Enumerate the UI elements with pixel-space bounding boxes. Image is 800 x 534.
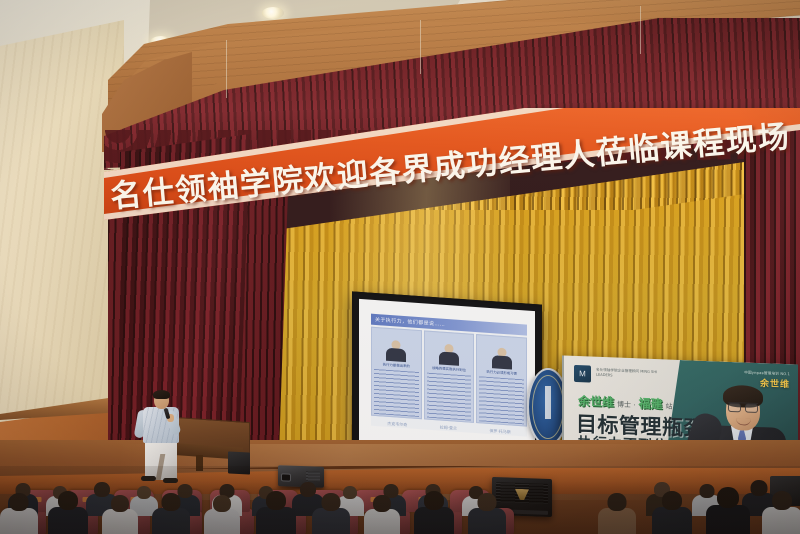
poster-stop-gray: 站 bbox=[665, 401, 672, 411]
audience-member-body bbox=[762, 507, 800, 534]
slide-footer-2: 拉姆·查兰 bbox=[440, 424, 457, 431]
audience-member-body bbox=[598, 508, 636, 534]
audience-member-body bbox=[204, 509, 240, 534]
audience-member bbox=[312, 490, 350, 534]
slide-column-1: 执行力是做出来的 bbox=[371, 327, 422, 420]
audience-member-head bbox=[162, 493, 181, 511]
audience-member-head bbox=[111, 495, 129, 512]
audience-member-head bbox=[266, 491, 286, 510]
crest-pillar bbox=[545, 386, 551, 419]
audience-member-body bbox=[102, 509, 138, 534]
banner-string-right bbox=[640, 6, 641, 54]
audience-member bbox=[204, 492, 240, 534]
slide-photo-1 bbox=[374, 330, 419, 363]
slide-column-3: 执行力必须形成习惯 bbox=[476, 334, 527, 427]
audience-member-head bbox=[424, 491, 444, 510]
audience-member-body bbox=[364, 509, 400, 534]
audience-member bbox=[468, 490, 506, 534]
audience-member-body bbox=[256, 507, 296, 534]
audience-member-head bbox=[717, 487, 739, 508]
slide-photo-3 bbox=[479, 337, 524, 370]
audience-member-head bbox=[608, 493, 627, 511]
banner-string-left bbox=[226, 40, 227, 98]
audience-member bbox=[652, 488, 692, 534]
audience-member bbox=[706, 484, 750, 534]
audience-member-head bbox=[478, 493, 497, 511]
audience-member bbox=[762, 488, 800, 534]
slide-footer-3: 保罗·托马斯 bbox=[489, 428, 510, 435]
audience-member-body bbox=[48, 507, 88, 534]
presentation-slide: 关于执行力，他们都是说…… 执行力是做出来的战略的落实靠执行到位执行力必须形成习… bbox=[371, 314, 527, 437]
audience-member-body bbox=[312, 508, 350, 534]
audience-member-head bbox=[662, 491, 682, 510]
slide-column-2: 战略的落实靠执行到位 bbox=[424, 330, 475, 423]
presenter-hair bbox=[153, 390, 170, 399]
audience-member-head bbox=[58, 491, 78, 510]
audience-member-body bbox=[152, 508, 190, 534]
audience-member-body bbox=[414, 507, 454, 534]
poster-title-gray: 博士 · bbox=[617, 400, 635, 411]
audience-member-head bbox=[10, 493, 29, 511]
audience-member bbox=[0, 490, 38, 534]
audience-member-head bbox=[322, 493, 341, 511]
poster-logo-caption: 名仕领袖学院企业管理顾问 MING SHI LEADERS bbox=[596, 368, 666, 381]
poster-logo-mark: M bbox=[574, 365, 591, 383]
audience-member bbox=[48, 488, 88, 534]
audience-member-body bbox=[706, 505, 750, 534]
auditorium-scene: 名仕领袖学院欢迎各界成功经理人莅临课程现场 关于执行力，他们都是说…… 执行力是… bbox=[0, 0, 800, 534]
slide-bodytext-2 bbox=[427, 372, 472, 420]
audience-member-body bbox=[652, 507, 692, 534]
poster-man-glasses-icon bbox=[728, 402, 758, 411]
audience-member bbox=[102, 492, 138, 534]
audience-member bbox=[256, 488, 296, 534]
slide-bodytext-3 bbox=[479, 376, 524, 424]
slide-footer-1: 杰克韦尔奇 bbox=[387, 421, 407, 428]
screen-surface: 关于执行力，他们都是说…… 执行力是做出来的战略的落实靠执行到位执行力必须形成习… bbox=[359, 299, 535, 454]
audience-member-body bbox=[468, 508, 506, 534]
audience-member-body bbox=[0, 508, 38, 534]
audience-member bbox=[364, 492, 400, 534]
seated-audience bbox=[0, 466, 800, 534]
banner-string-mid bbox=[420, 20, 421, 74]
slide-photo-2 bbox=[427, 334, 472, 367]
audience-member-head bbox=[373, 495, 391, 512]
audience-member-head bbox=[772, 491, 792, 510]
slide-bodytext-1 bbox=[374, 369, 419, 417]
audience-member bbox=[152, 490, 190, 534]
slide-columns: 执行力是做出来的战略的落实靠执行到位执行力必须形成习惯 bbox=[371, 327, 527, 427]
audience-member-head bbox=[137, 486, 151, 499]
audience-member-head bbox=[213, 495, 231, 512]
downlight-3 bbox=[262, 7, 284, 19]
audience-member bbox=[598, 490, 636, 534]
audience-member bbox=[414, 488, 454, 534]
